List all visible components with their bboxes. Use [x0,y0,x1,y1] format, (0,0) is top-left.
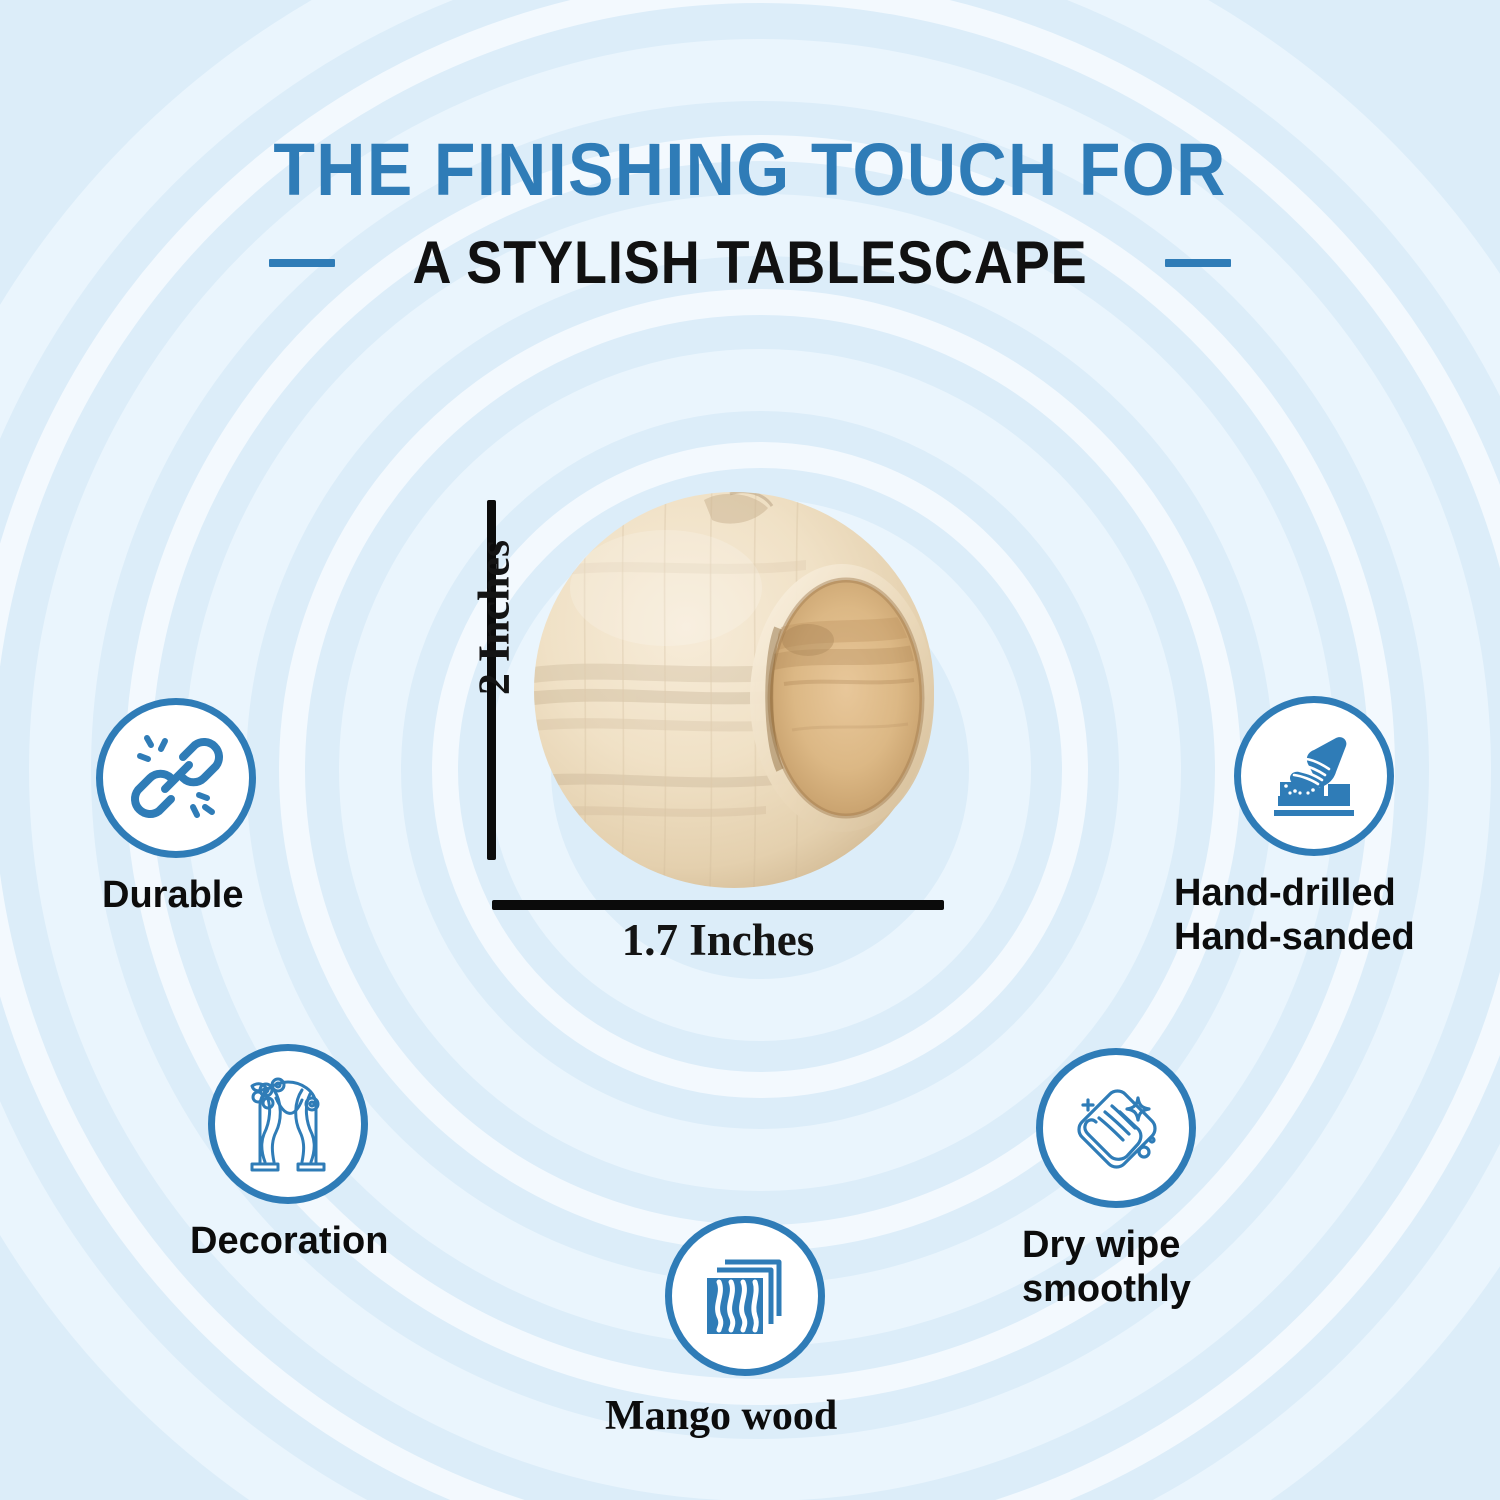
feature-dry-wipe: Dry wipe smoothly [1036,1048,1196,1311]
hand-sanding-icon [1264,726,1364,826]
feature-hand-drilled-sanded: Hand-drilled Hand-sanded [1234,696,1415,959]
feature-mango-wood: Mango wood [665,1216,837,1440]
feature-durable: Durable [96,698,256,918]
feature-icon-circle-mango-wood [665,1216,825,1376]
headline-secondary-row: A STYLISH TABLESCAPE [0,228,1500,297]
wedding-arch-icon [236,1072,340,1176]
headline-primary: THE FINISHING TOUCH FOR [60,132,1440,207]
product-image-napkin-ring [516,478,986,908]
chain-link-icon [127,729,225,827]
feature-label-mango-wood: Mango wood [605,1392,837,1440]
headline-secondary: A STYLISH TABLESCAPE [412,228,1087,297]
dimension-rule-horizontal [492,900,944,910]
feature-label-dry-wipe: Dry wipe smoothly [1022,1224,1196,1311]
feature-label-durable: Durable [102,874,256,918]
hand-wiping-icon [1066,1078,1166,1178]
dimension-label-height: 2 Inches [469,528,520,708]
wood-planks-icon [697,1248,793,1344]
dash-right-icon [1165,259,1231,267]
feature-icon-circle-hand-drilled [1234,696,1394,856]
feature-icon-circle-decoration [208,1044,368,1204]
feature-label-decoration: Decoration [190,1220,388,1264]
dash-left-icon [269,259,335,267]
feature-label-hand-drilled-sanded: Hand-drilled Hand-sanded [1174,872,1415,959]
feature-icon-circle-durable [96,698,256,858]
feature-decoration: Decoration [208,1044,388,1264]
feature-icon-circle-dry-wipe [1036,1048,1196,1208]
infographic-canvas: THE FINISHING TOUCH FOR A STYLISH TABLES… [0,0,1500,1500]
dimension-label-width: 1.7 Inches [492,914,944,966]
